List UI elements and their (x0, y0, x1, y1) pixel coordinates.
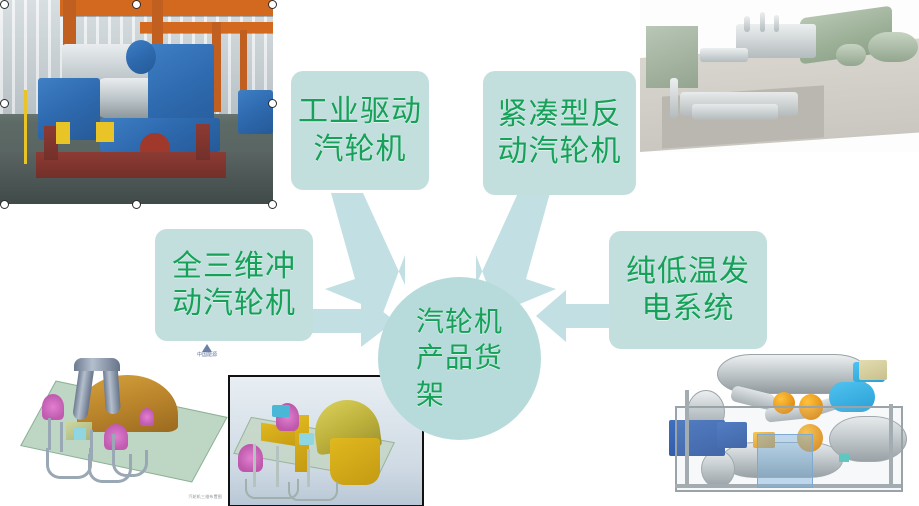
node-label: 全三维冲 动汽轮机 (172, 248, 296, 322)
cad-cooling-loop-3 (112, 450, 148, 477)
resize-handle-2[interactable] (268, 0, 277, 9)
center-node-turbine-product-shelf[interactable]: 汽轮机 产品货 架 (378, 277, 541, 440)
cad-support-pink-left (42, 394, 64, 420)
cad-exhaust-crossover (74, 358, 120, 371)
node-full-3d-impulse-turbine[interactable]: 全三维冲 动汽轮机 (155, 229, 313, 341)
yellow-block-left (56, 122, 70, 144)
slide-canvas: 中国能源 汽轮机三维布置图 (0, 0, 919, 506)
logo-text: 中国能源 (197, 352, 217, 358)
resize-handle-4[interactable] (268, 99, 277, 108)
cad-turbine-housing (77, 375, 177, 432)
turbine-second-unit (238, 90, 273, 134)
turbine-flange (126, 40, 156, 74)
render-valve-stem-c (774, 15, 779, 32)
node-industrial-drive-turbine[interactable]: 工业驱动 汽轮机 (291, 71, 429, 190)
resize-handle-0[interactable] (0, 0, 9, 9)
cad-cooling-loop-1 (46, 448, 92, 479)
render-pump-group (692, 104, 778, 120)
logo-mark-icon (202, 344, 212, 352)
render-valve-stem-a (744, 16, 750, 32)
cad-leg-1 (48, 418, 51, 450)
cad-support-pink-right (140, 408, 154, 426)
cad2-blue-fitting (272, 405, 289, 417)
low-temperature-skid-render[interactable] (661, 346, 913, 506)
cad2-cyan-fitting (299, 433, 314, 445)
cad2-loop-2 (288, 482, 338, 501)
render-steam-line (700, 48, 748, 62)
node-pure-low-temperature-power-system[interactable]: 纯低温发 电系统 (609, 231, 767, 349)
skid-post-left (685, 390, 689, 488)
turbine-base-leg-right (196, 124, 210, 160)
render-generator-cylinder (868, 32, 918, 62)
resize-handle-5[interactable] (0, 200, 9, 209)
cad2-lower-casing (330, 438, 380, 484)
cad-caption: 汽轮机三维布置图 (188, 494, 222, 500)
node-label: 紧凑型反 动汽轮机 (498, 96, 622, 170)
render-valve-stem-b (760, 12, 765, 32)
factory-turbine-photo[interactable] (0, 0, 273, 204)
yellow-block-right (96, 122, 114, 142)
resize-handle-1[interactable] (132, 0, 141, 9)
turbine-plant-render[interactable] (640, 0, 919, 152)
resize-handle-6[interactable] (132, 200, 141, 209)
center-node-label: 汽轮机 产品货 架 (416, 304, 503, 413)
node-label: 工业驱动 汽轮机 (298, 93, 422, 167)
skid-support-cage (757, 434, 813, 488)
cad-blue-fitting (74, 428, 86, 440)
cad-support-pink-center (104, 424, 128, 450)
skid-tan-cover (859, 360, 887, 380)
render-riser-pipe (670, 78, 678, 118)
render-coupling-cylinder (836, 44, 866, 66)
resize-handle-3[interactable] (0, 99, 9, 108)
skid-post-right (889, 404, 893, 488)
turbine-cad-overview[interactable]: 中国能源 汽轮机三维布置图 (12, 338, 230, 506)
yellow-rail-post (24, 90, 27, 164)
resize-handle-7[interactable] (268, 200, 277, 209)
crane-beam-upper (60, 0, 273, 16)
node-compact-reaction-turbine[interactable]: 紧凑型反 动汽轮机 (483, 71, 636, 195)
cad2-support-pink-left (238, 444, 263, 472)
node-label: 纯低温发 电系统 (626, 253, 750, 327)
cad-company-logo: 中国能源 (190, 344, 224, 364)
